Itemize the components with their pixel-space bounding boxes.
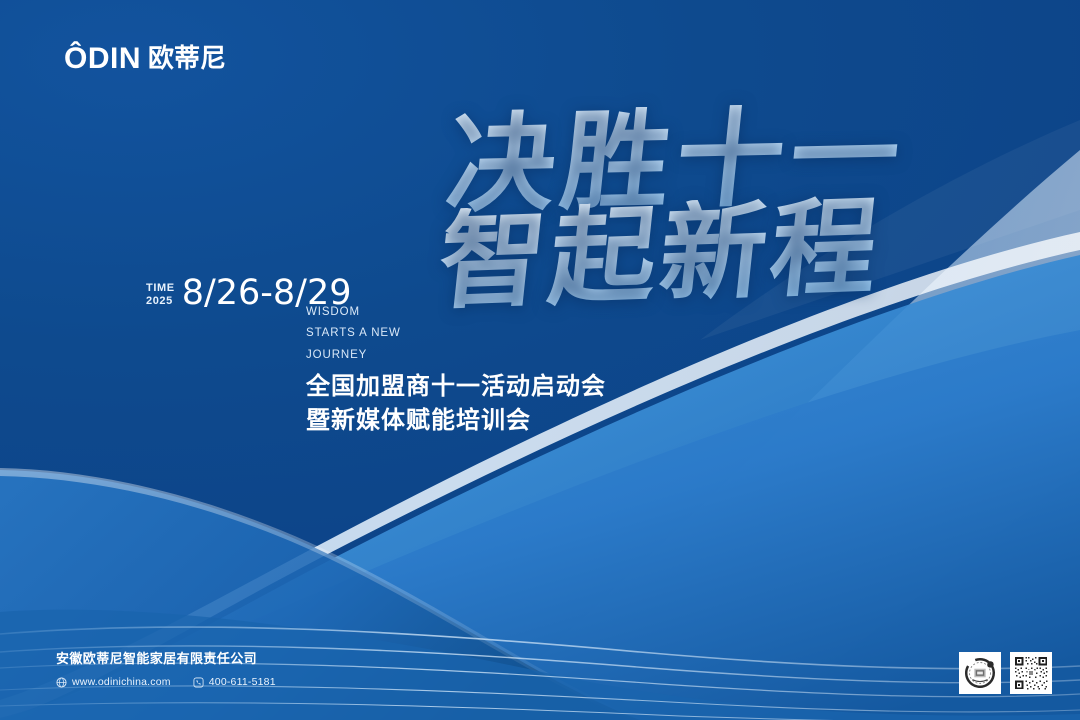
brand-logo-latin: ÔDIN (64, 44, 141, 74)
contact-row: www.odinichina.com 400-611-5181 (56, 676, 276, 688)
tagline-line-1: WISDOM (306, 302, 401, 323)
phone-text: 400-611-5181 (209, 676, 276, 688)
website-contact[interactable]: www.odinichina.com (56, 676, 171, 688)
poster-canvas: ÔDIN 欧蒂尼 决胜十一 智起新程 TIME 2025 8/26-8/29 W… (0, 0, 1080, 720)
qr-code[interactable] (1010, 652, 1052, 694)
subtitle-line-1: 全国加盟商十一活动启动会 (306, 369, 606, 403)
subtitle-line-2: 暨新媒体赋能培训会 (306, 403, 606, 437)
globe-icon (56, 677, 67, 688)
footer-block: 安徽欧蒂尼智能家居有限责任公司 www.odinichina.com 400-6… (56, 652, 276, 688)
tagline-line-3: JOURNEY (306, 345, 401, 366)
date-label-time: TIME (146, 282, 175, 295)
brand-mark-code[interactable] (959, 652, 1001, 694)
date-label-year: 2025 (146, 295, 175, 308)
website-text: www.odinichina.com (72, 676, 171, 688)
headline-block: 决胜十一 智起新程 (270, 108, 910, 310)
company-name: 安徽欧蒂尼智能家居有限责任公司 (56, 652, 276, 669)
code-group (959, 652, 1052, 694)
event-subtitle: 全国加盟商十一活动启动会 暨新媒体赋能培训会 (306, 369, 606, 437)
tagline-line-2: STARTS A NEW (306, 323, 401, 344)
brand-logo: ÔDIN 欧蒂尼 (64, 44, 226, 74)
phone-contact[interactable]: 400-611-5181 (193, 676, 276, 688)
brand-logo-chinese: 欧蒂尼 (148, 46, 226, 72)
phone-icon (193, 677, 204, 688)
date-label: TIME 2025 (146, 276, 175, 308)
qr-code-icon (1012, 654, 1050, 692)
english-tagline: WISDOM STARTS A NEW JOURNEY (306, 302, 401, 366)
circular-brand-mark-icon (961, 654, 999, 692)
